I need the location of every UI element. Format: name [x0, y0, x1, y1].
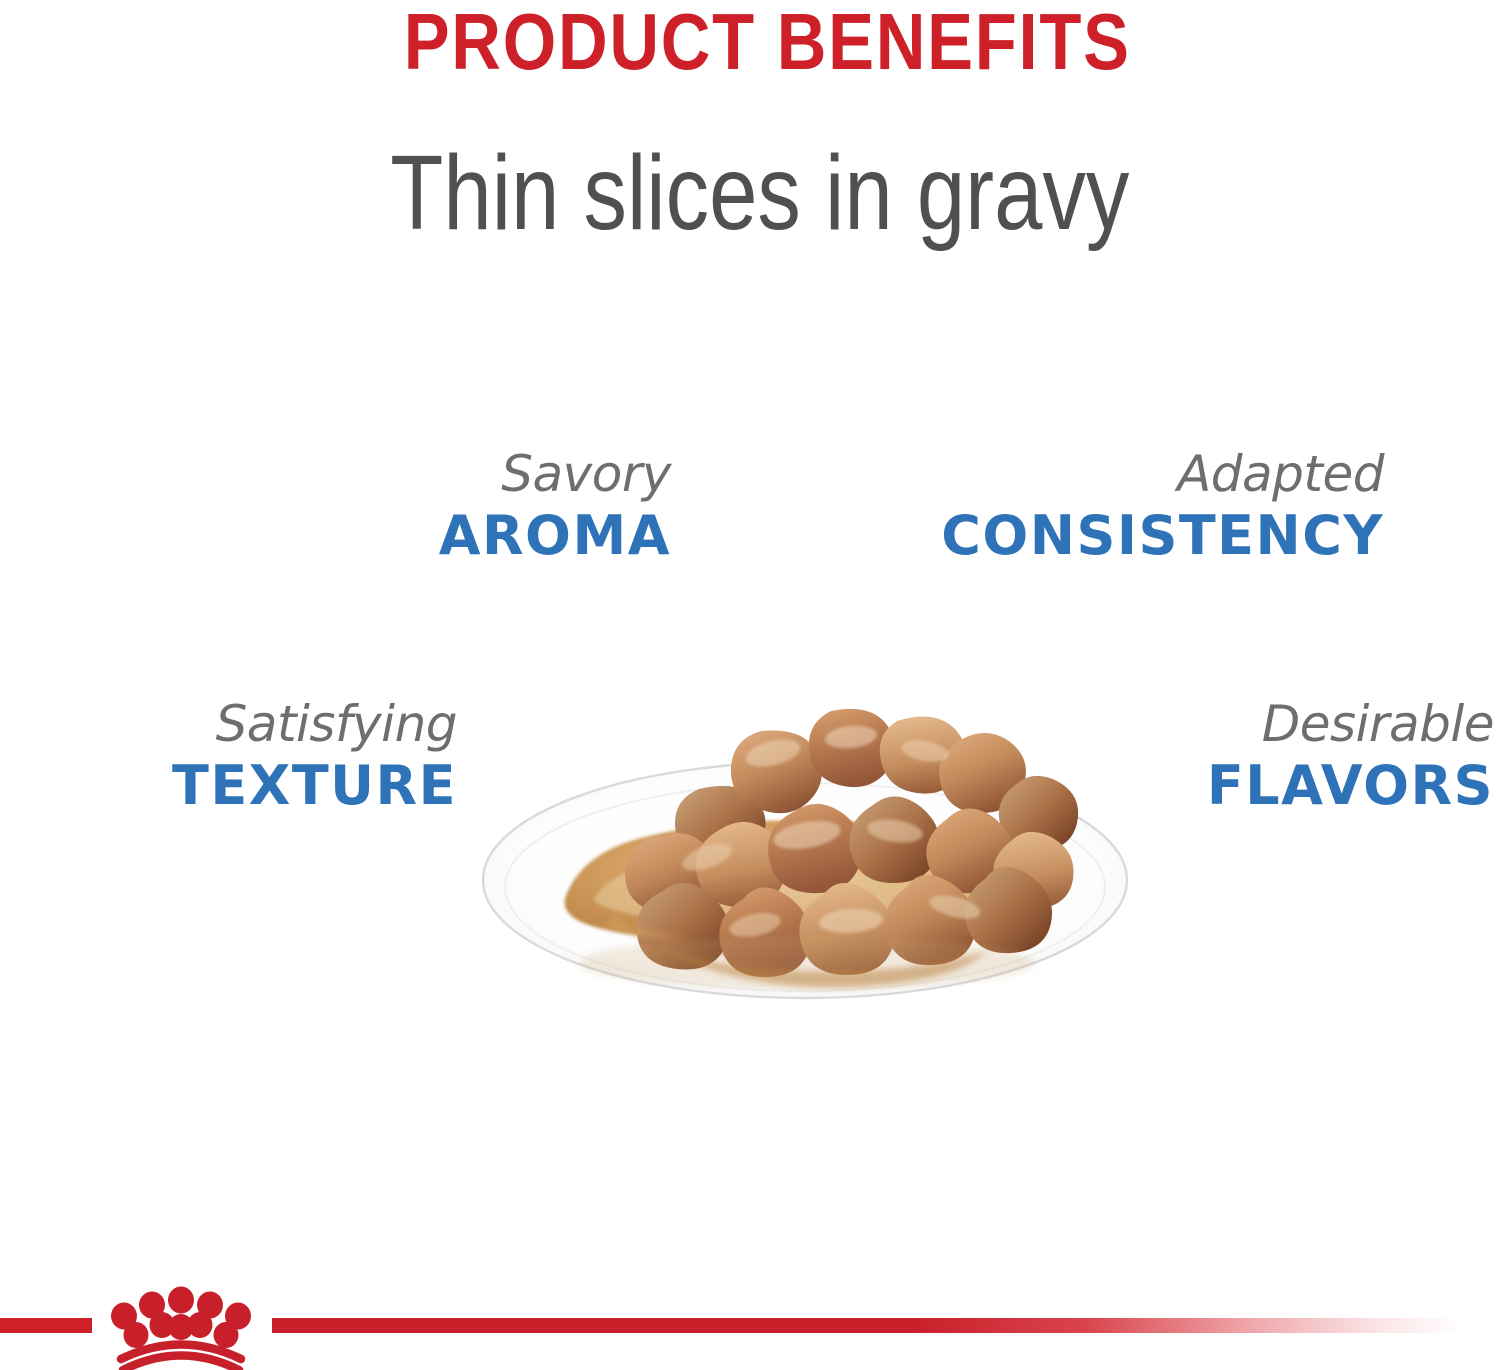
- product-food-image: [455, 625, 1155, 1025]
- footer-rule-right: [272, 1318, 1500, 1333]
- food-illustration: [455, 625, 1155, 1025]
- food-contact-shadow: [579, 937, 1035, 989]
- benefit-consistency-headline: CONSISTENCY: [0, 506, 1384, 566]
- page-eyebrow-heading: PRODUCT BENEFITS: [105, 2, 1395, 82]
- footer-rule-left: [0, 1318, 92, 1333]
- royal-canin-crown-logo: [103, 1283, 259, 1370]
- benefit-consistency: Adapted CONSISTENCY: [0, 448, 1384, 566]
- crown-band-lower: [123, 1356, 239, 1370]
- benefit-consistency-qualifier: Adapted: [0, 448, 1384, 500]
- crown-icon: [103, 1283, 259, 1370]
- page-title: Thin slices in gravy: [135, 138, 1365, 249]
